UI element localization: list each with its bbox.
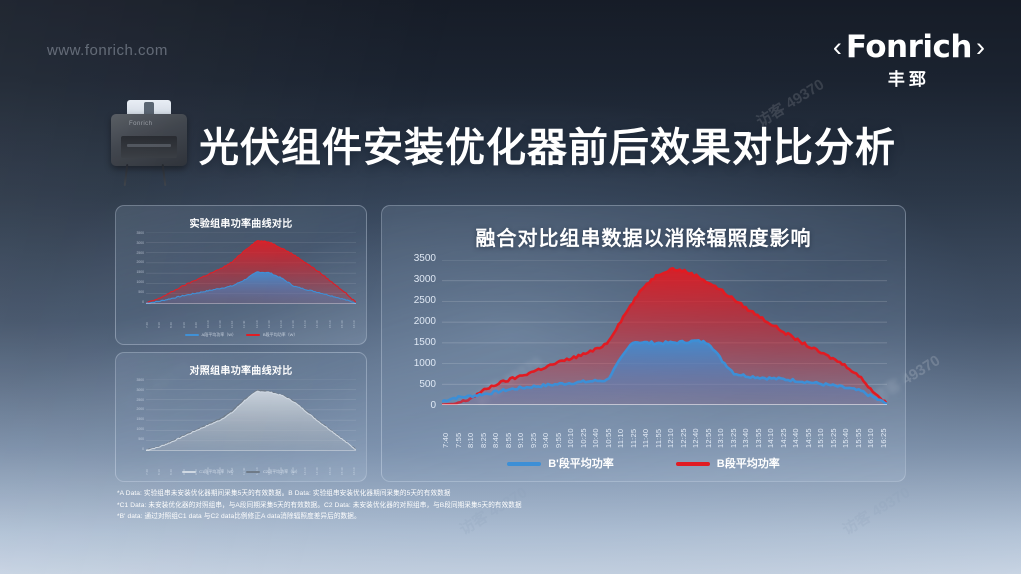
x-axis-tick: 10:10 xyxy=(207,306,210,328)
legend-color-swatch xyxy=(246,471,260,474)
x-axis-tick: 13:55 xyxy=(755,408,763,448)
y-axis-tick: 3500 xyxy=(414,254,436,264)
y-axis-tick: 0 xyxy=(430,401,436,411)
device-body: Fonrich xyxy=(111,114,187,166)
legend-color-swatch xyxy=(182,471,196,474)
x-axis-tick: 12:25 xyxy=(680,408,688,448)
x-axis-tick: 10:25 xyxy=(580,408,588,448)
legend-item[interactable]: B'段平均功率 xyxy=(507,455,614,471)
y-axis-tick: 3000 xyxy=(136,389,144,392)
chart-title: 对照组串功率曲线对比 xyxy=(116,362,366,377)
chart-plot-area xyxy=(146,379,356,451)
chart-legend: A段平均功率（W）B段平均功率（W） xyxy=(116,332,366,338)
x-axis-tick: 9:25 xyxy=(530,408,538,448)
chart-legend: C1段平均功率（W）C2段平均功率（W） xyxy=(116,469,366,475)
x-axis-tick: 10:10 xyxy=(567,408,575,448)
device-cable xyxy=(162,164,167,186)
page-title: 光伏组件安装优化器前后效果对比分析 xyxy=(199,115,896,173)
legend-label: C2段平均功率（W） xyxy=(263,469,300,474)
x-axis-tick: 9:10 xyxy=(517,408,525,448)
x-axis-tick: 14:25 xyxy=(780,408,788,448)
x-axis-tick: 11:40 xyxy=(642,408,650,448)
chart-panel-experiment-group: 实验组串功率曲线对比 3500300025002000150010005000 … xyxy=(115,205,367,345)
x-axis-tick: 12:55 xyxy=(705,408,713,448)
y-axis-tick: 2000 xyxy=(414,317,436,327)
y-axis-tick: 500 xyxy=(419,380,436,390)
x-axis-tick: 15:10 xyxy=(817,408,825,448)
x-axis-tick: 14:10 xyxy=(304,306,307,328)
y-axis-labels: 3500300025002000150010005000 xyxy=(120,379,144,451)
x-axis-tick: 13:40 xyxy=(742,408,750,448)
footnote-line: *C1 Data: 未安装优化器的对照组串，与A段同期采集5天的有效数据。C2 … xyxy=(117,500,837,512)
x-axis-tick: 13:10 xyxy=(717,408,725,448)
legend-item[interactable]: C1段平均功率（W） xyxy=(182,469,236,475)
y-axis-tick: 3000 xyxy=(136,242,144,245)
footnote-line: *B' data: 通过对照组C1 data 与C2 data比例修正A dat… xyxy=(117,511,837,523)
x-axis-tick: 16:25 xyxy=(880,408,888,448)
x-axis-tick: 16:10 xyxy=(353,306,356,328)
y-axis-tick: 2500 xyxy=(136,399,144,402)
x-axis-tick: 11:10 xyxy=(231,306,234,328)
legend-label: B段平均功率（W） xyxy=(263,332,297,337)
y-axis-tick: 2500 xyxy=(136,252,144,255)
legend-color-swatch xyxy=(676,462,710,466)
x-axis-tick: 8:40 xyxy=(170,306,173,328)
x-axis-tick: 9:40 xyxy=(195,306,198,328)
legend-color-swatch xyxy=(246,334,260,337)
x-axis-tick: 10:40 xyxy=(219,306,222,328)
x-axis-tick: 9:10 xyxy=(183,306,186,328)
x-axis-tick: 9:40 xyxy=(542,408,550,448)
x-axis-tick: 7:55 xyxy=(455,408,463,448)
legend-item[interactable]: A段平均功率（W） xyxy=(185,332,236,338)
bracket-right-icon: › xyxy=(976,32,985,63)
x-axis-tick: 7:40 xyxy=(146,306,149,328)
legend-item[interactable]: C2段平均功率（W） xyxy=(246,469,300,475)
x-axis-tick: 14:55 xyxy=(805,408,813,448)
legend-color-swatch xyxy=(185,334,199,337)
x-axis-tick: 11:40 xyxy=(243,306,246,328)
y-axis-tick: 500 xyxy=(138,438,144,441)
bracket-left-icon: ‹ xyxy=(833,32,842,63)
x-axis-tick: 14:40 xyxy=(792,408,800,448)
legend-item[interactable]: B段平均功率（W） xyxy=(246,332,297,338)
x-axis-tick: 15:40 xyxy=(842,408,850,448)
visitor-watermark: 访客 49370 xyxy=(838,481,913,539)
y-axis-tick: 1000 xyxy=(414,359,436,369)
x-axis-tick: 14:40 xyxy=(316,306,319,328)
legend-color-swatch xyxy=(507,462,541,466)
device-cable xyxy=(124,164,129,186)
website-watermark: www.fonrich.com xyxy=(47,42,168,59)
brand-logo: ‹ Fonrich › 丰郅 xyxy=(833,32,985,90)
x-axis-tick: 10:40 xyxy=(592,408,600,448)
legend-label: C1段平均功率（W） xyxy=(199,469,236,474)
main-x-axis-labels: 7:407:558:108:258:408:559:109:259:409:55… xyxy=(442,408,887,448)
x-axis-tick: 8:40 xyxy=(492,408,500,448)
x-axis-tick: 11:25 xyxy=(630,408,638,448)
device-label: Fonrich xyxy=(129,121,153,127)
x-axis-tick: 8:25 xyxy=(480,408,488,448)
main-chart-plot-area xyxy=(442,260,887,405)
chart-panel-main: 融合对比组串数据以消除辐照度影响 35003000250020001500100… xyxy=(381,205,906,482)
brand-name-cn: 丰郅 xyxy=(833,65,985,90)
legend-label: B'段平均功率 xyxy=(548,458,614,470)
x-axis-tick: 14:10 xyxy=(767,408,775,448)
x-axis-tick: 16:10 xyxy=(867,408,875,448)
chart-title: 实验组串功率曲线对比 xyxy=(116,215,366,230)
footnote-line: *A Data: 实验组串未安装优化器期间采集5天的有效数据。B Data: 实… xyxy=(117,488,837,500)
y-axis-labels: 3500300025002000150010005000 xyxy=(120,232,144,304)
y-axis-tick: 3500 xyxy=(136,379,144,382)
title-block: Fonrich 光伏组件安装优化器前后效果对比分析 xyxy=(105,100,896,188)
x-axis-tick: 15:40 xyxy=(341,306,344,328)
x-axis-tick: 10:55 xyxy=(605,408,613,448)
y-axis-tick: 500 xyxy=(138,291,144,294)
x-axis-labels: 7:408:108:409:109:4010:1010:4011:1011:40… xyxy=(146,306,356,328)
y-axis-tick: 3000 xyxy=(414,275,436,285)
x-axis-tick: 15:55 xyxy=(855,408,863,448)
y-axis-tick: 0 xyxy=(142,301,144,304)
x-axis-tick: 12:10 xyxy=(256,306,259,328)
slide-canvas: www.fonrich.com 访客 49370 访客 49370 访客 493… xyxy=(0,0,1021,574)
y-axis-tick: 2500 xyxy=(414,296,436,306)
main-y-axis-labels: 3500300025002000150010005000 xyxy=(390,254,436,411)
footnotes-block: *A Data: 实验组串未安装优化器期间采集5天的有效数据。B Data: 实… xyxy=(117,488,837,523)
y-axis-tick: 2000 xyxy=(136,408,144,411)
y-axis-tick: 2000 xyxy=(136,261,144,264)
y-axis-tick: 1500 xyxy=(136,271,144,274)
x-axis-tick: 8:10 xyxy=(467,408,475,448)
x-axis-tick: 11:10 xyxy=(617,408,625,448)
x-axis-tick: 8:10 xyxy=(158,306,161,328)
x-axis-tick: 13:10 xyxy=(280,306,283,328)
y-axis-tick: 0 xyxy=(142,448,144,451)
x-axis-tick: 8:55 xyxy=(505,408,513,448)
brand-wordmark: Fonrich xyxy=(846,32,972,63)
x-axis-tick: 15:10 xyxy=(329,306,332,328)
main-chart-legend: B'段平均功率B段平均功率 xyxy=(382,455,905,471)
y-axis-tick: 3500 xyxy=(136,232,144,235)
x-axis-tick: 9:55 xyxy=(555,408,563,448)
x-axis-tick: 12:40 xyxy=(268,306,271,328)
x-axis-tick: 13:25 xyxy=(730,408,738,448)
chart-plot-area xyxy=(146,232,356,304)
y-axis-tick: 1500 xyxy=(136,418,144,421)
y-axis-tick: 1000 xyxy=(136,281,144,284)
main-chart-title: 融合对比组串数据以消除辐照度影响 xyxy=(382,222,905,251)
x-axis-tick: 15:25 xyxy=(830,408,838,448)
legend-label: A段平均功率（W） xyxy=(202,332,236,337)
legend-label: B段平均功率 xyxy=(717,458,780,470)
x-axis-tick: 12:10 xyxy=(667,408,675,448)
legend-item[interactable]: B段平均功率 xyxy=(676,455,780,471)
x-axis-tick: 7:40 xyxy=(442,408,450,448)
optimizer-device-icon: Fonrich xyxy=(105,100,191,188)
x-axis-tick: 11:55 xyxy=(655,408,663,448)
y-axis-tick: 1500 xyxy=(414,338,436,348)
x-axis-tick: 12:40 xyxy=(692,408,700,448)
y-axis-tick: 1000 xyxy=(136,428,144,431)
x-axis-tick: 13:40 xyxy=(292,306,295,328)
chart-panel-control-group: 对照组串功率曲线对比 3500300025002000150010005000 … xyxy=(115,352,367,482)
device-slot xyxy=(121,136,177,158)
